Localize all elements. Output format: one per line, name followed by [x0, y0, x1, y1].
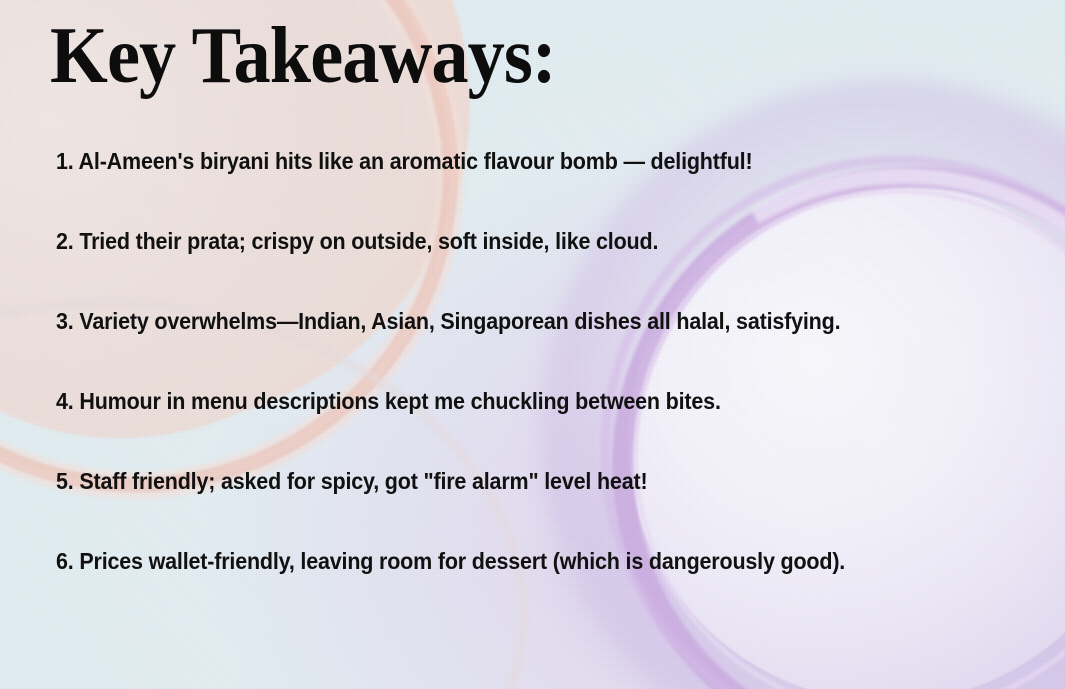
list-item: 6. Prices wallet-friendly, leaving room … [56, 550, 943, 574]
list-item: 4. Humour in menu descriptions kept me c… [56, 390, 943, 470]
takeaway-list: 1. Al-Ameen's biryani hits like an aroma… [56, 150, 1025, 574]
list-item: 3. Variety overwhelms—Indian, Asian, Sin… [56, 310, 943, 390]
page-title: Key Takeaways: [50, 16, 556, 96]
key-takeaways-poster: Key Takeaways: 1. Al-Ameen's biryani hit… [0, 0, 1065, 689]
list-item: 2. Tried their prata; crispy on outside,… [56, 230, 943, 310]
poster-content: Key Takeaways: 1. Al-Ameen's biryani hit… [0, 0, 1065, 689]
list-item: 1. Al-Ameen's biryani hits like an aroma… [56, 150, 943, 230]
list-item: 5. Staff friendly; asked for spicy, got … [56, 470, 943, 550]
